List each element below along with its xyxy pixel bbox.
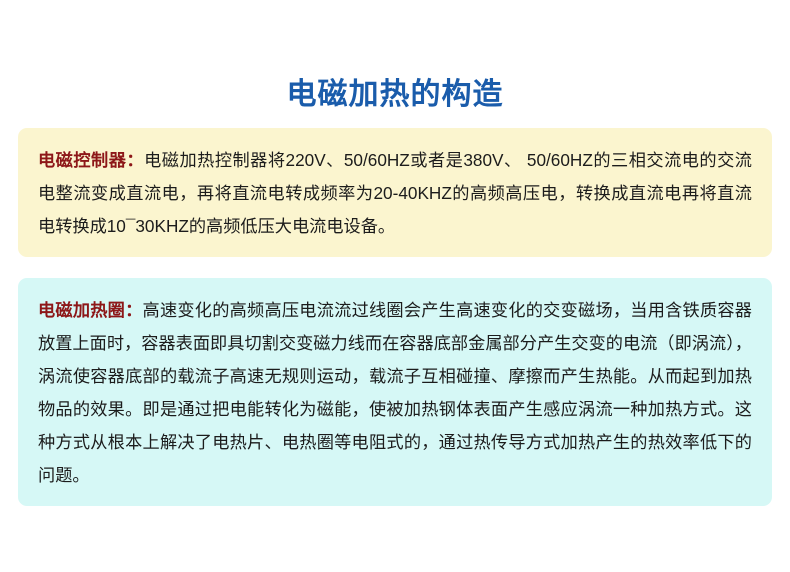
page-root: 电磁加热的构造 电磁控制器：电磁加热控制器将220V、50/60HZ或者是380…	[0, 0, 790, 572]
section-paragraph-controller: 电磁控制器：电磁加热控制器将220V、50/60HZ或者是380V、 50/60…	[38, 144, 752, 243]
section-body-controller: 电磁加热控制器将220V、50/60HZ或者是380V、 50/60HZ的三相交…	[38, 150, 752, 236]
section-body-coil: 高速变化的高频高压电流流过线圈会产生高速变化的交变磁场，当用含铁质容器放置上面时…	[38, 300, 752, 485]
section-card-coil: 电磁加热圈：高速变化的高频高压电流流过线圈会产生高速变化的交变磁场，当用含铁质容…	[18, 278, 772, 506]
section-paragraph-coil: 电磁加热圈：高速变化的高频高压电流流过线圈会产生高速变化的交变磁场，当用含铁质容…	[38, 294, 752, 492]
section-card-controller: 电磁控制器：电磁加热控制器将220V、50/60HZ或者是380V、 50/60…	[18, 128, 772, 257]
page-title: 电磁加热的构造	[0, 76, 790, 114]
section-heading-controller: 电磁控制器：	[38, 150, 144, 170]
section-heading-coil: 电磁加热圈：	[38, 300, 143, 320]
